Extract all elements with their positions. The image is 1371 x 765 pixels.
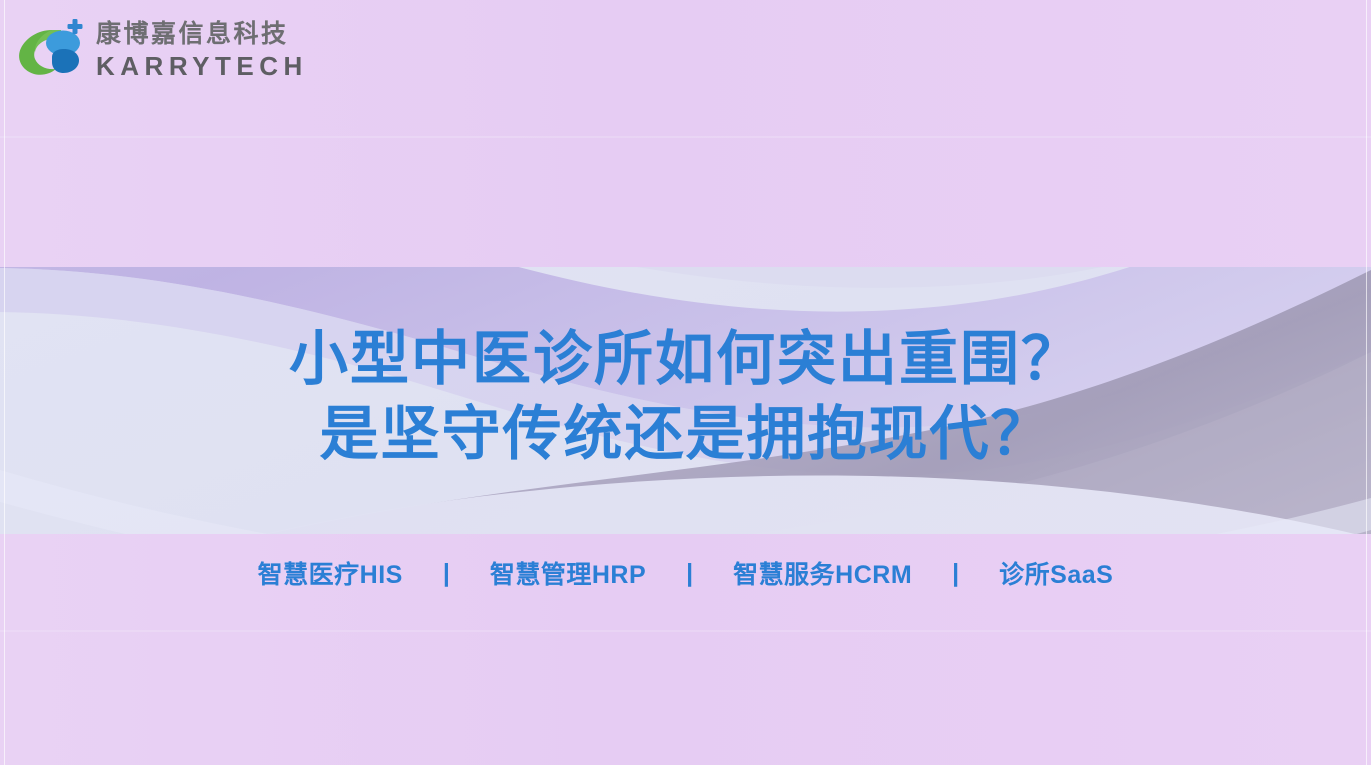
tagline-item-saas[interactable]: 诊所SaaS (999, 555, 1113, 591)
tagline-item-his[interactable]: 智慧医疗HIS (258, 555, 403, 591)
tagline-separator-2: | (646, 559, 733, 588)
tagline-separator-3: | (912, 559, 999, 588)
tagline-item-hrp[interactable]: 智慧管理HRP (490, 555, 646, 591)
tagline-row: 智慧医疗HIS | 智慧管理HRP | 智慧服务HCRM | 诊所SaaS (0, 555, 1371, 591)
promo-poster: 康博嘉信息科技 KARRYTECH 小型中医诊所如何突出重围？ 是坚守传统还是拥… (0, 0, 1371, 765)
tagline-separator-1: | (403, 559, 490, 588)
brand-wordmark: 康博嘉信息科技 KARRYTECH (96, 22, 308, 79)
tagline-item-hcrm[interactable]: 智慧服务HCRM (733, 555, 912, 591)
brand-name-en: KARRYTECH (96, 53, 308, 79)
brand-logo[interactable]: 康博嘉信息科技 KARRYTECH (8, 14, 308, 86)
headline-line-1: 小型中医诊所如何突出重围？ (0, 322, 1371, 397)
headline-line-2: 是坚守传统还是拥抱现代？ (0, 397, 1371, 472)
karrytech-leaf-plus-logo-icon (8, 14, 86, 86)
brand-name-cn: 康博嘉信息科技 (96, 22, 308, 47)
headline: 小型中医诊所如何突出重围？ 是坚守传统还是拥抱现代？ (0, 322, 1371, 472)
